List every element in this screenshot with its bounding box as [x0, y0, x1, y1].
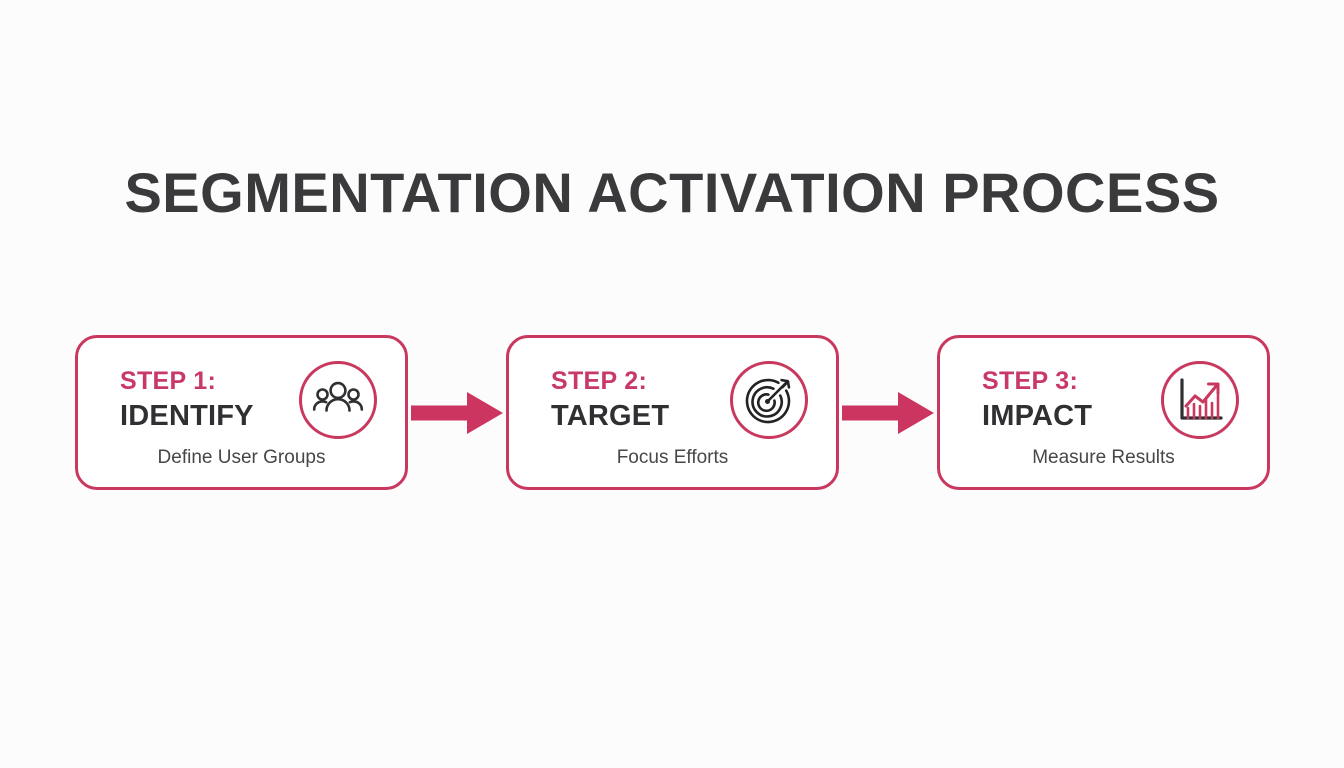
step-card-impact[interactable]: STEP 3: IMPACT [937, 335, 1270, 490]
step-card-text: STEP 2: TARGET [551, 369, 669, 431]
step-subtitle: Focus Efforts [509, 447, 836, 469]
step-name: IMPACT [982, 402, 1092, 431]
step-subtitle: Define User Groups [78, 447, 405, 469]
arrow-right-icon [408, 390, 506, 436]
step-card-header: STEP 1: IDENTIFY [78, 355, 405, 445]
step-card-header: STEP 2: TARGET [509, 355, 836, 445]
page-title: SEGMENTATION ACTIVATION PROCESS [0, 160, 1344, 225]
arrow-right-icon [839, 390, 937, 436]
step-card-identify[interactable]: STEP 1: IDENTIFY Define User Groups [75, 335, 408, 490]
step-eyebrow: STEP 2: [551, 369, 669, 394]
target-dartboard-icon [730, 361, 808, 439]
step-eyebrow: STEP 1: [120, 369, 254, 394]
step-subtitle: Measure Results [940, 447, 1267, 469]
process-flow-diagram: STEP 1: IDENTIFY Define User Groups [75, 335, 1270, 490]
growth-chart-icon [1161, 361, 1239, 439]
step-card-target[interactable]: STEP 2: TARGET Focus Efforts [506, 335, 839, 490]
step-card-text: STEP 3: IMPACT [982, 369, 1092, 431]
step-card-header: STEP 3: IMPACT [940, 355, 1267, 445]
step-card-text: STEP 1: IDENTIFY [120, 369, 254, 431]
step-eyebrow: STEP 3: [982, 369, 1092, 394]
step-name: IDENTIFY [120, 402, 254, 431]
people-group-icon [299, 361, 377, 439]
step-name: TARGET [551, 402, 669, 431]
